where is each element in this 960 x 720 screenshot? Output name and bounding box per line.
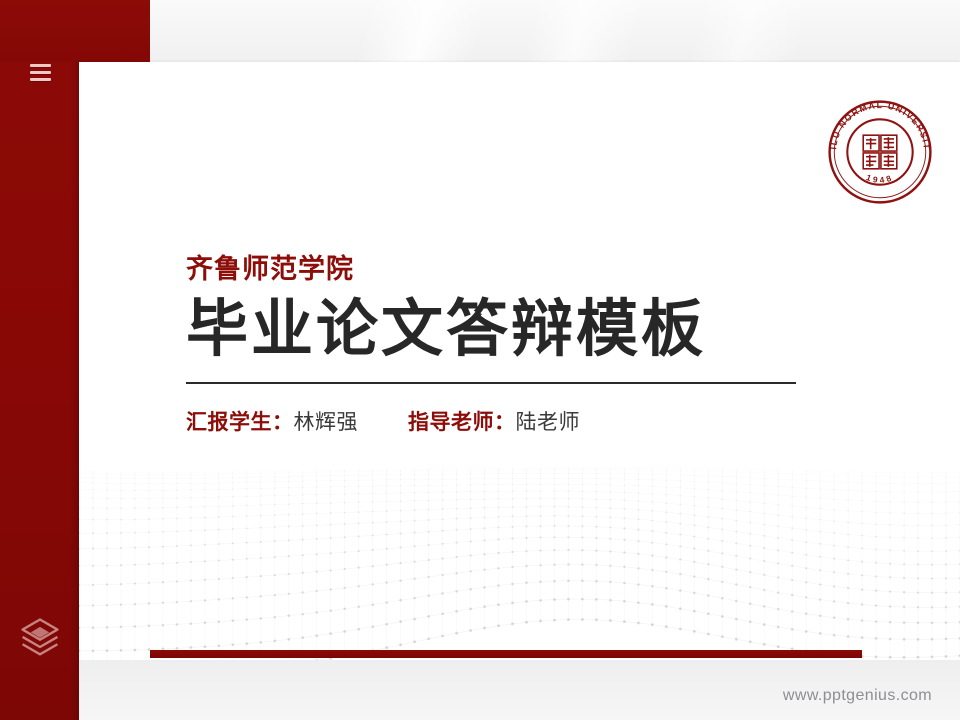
university-name: 齐鲁师范学院 (186, 254, 826, 285)
rail-shade (69, 0, 79, 720)
student-group: 汇报学生： 林辉强 (186, 406, 358, 436)
hamburger-bar-1 (30, 64, 51, 67)
title-divider (186, 382, 796, 384)
rail-top-cap (0, 0, 150, 62)
hamburger-icon[interactable] (30, 64, 51, 81)
slide-footer-bar (150, 650, 862, 658)
page-title: 毕业论文答辩模板 (186, 295, 826, 364)
slide-surface: QILU NORMAL UNIVERSITY 1948 (79, 62, 960, 660)
student-name: 林辉强 (294, 406, 359, 436)
presenter-meta: 汇报学生： 林辉强 指导老师： 陆老师 (186, 406, 826, 436)
hamburger-bar-3 (30, 78, 51, 81)
svg-text:QILU NORMAL UNIVERSITY: QILU NORMAL UNIVERSITY (824, 96, 932, 151)
hamburger-bar-2 (30, 71, 51, 74)
university-seal-logo: QILU NORMAL UNIVERSITY 1948 (824, 96, 936, 208)
advisor-label: 指导老师： (408, 406, 516, 436)
advisor-name: 陆老师 (516, 406, 581, 436)
title-block: 齐鲁师范学院 毕业论文答辩模板 汇报学生： 林辉强 指导老师： 陆老师 (186, 254, 826, 436)
presentation-slide-canvas: QILU NORMAL UNIVERSITY 1948 (0, 0, 960, 720)
advisor-group: 指导老师： 陆老师 (408, 406, 580, 436)
student-label: 汇报学生： (186, 406, 294, 436)
dot-mesh-wave-decoration (79, 460, 960, 660)
stacked-layers-icon[interactable] (18, 614, 62, 658)
left-red-rail (0, 0, 79, 720)
site-watermark: www.pptgenius.com (783, 687, 932, 705)
